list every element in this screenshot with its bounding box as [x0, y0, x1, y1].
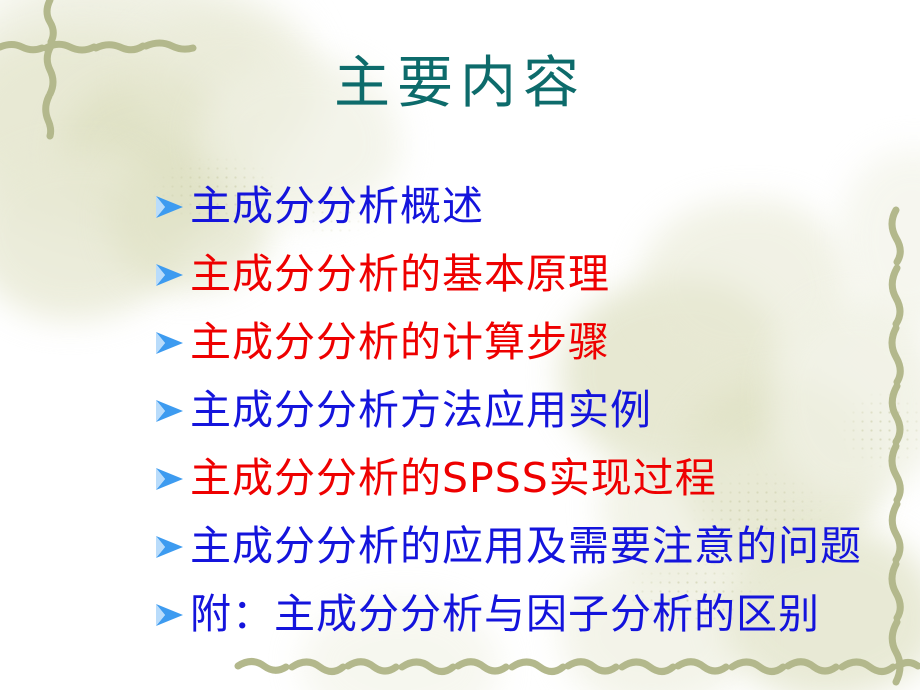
list-item[interactable]: 附：主成分分析与因子分析的区别 [152, 580, 912, 648]
list-item-label: 主成分分析的应用及需要注意的问题 [190, 526, 862, 567]
presentation-slide: 主要内容 主成分分析概述 主成分分析的基本原理 [0, 0, 920, 690]
list-item[interactable]: 主成分分析方法应用实例 [152, 376, 912, 444]
list-item[interactable]: 主成分分析的基本原理 [152, 240, 912, 308]
bullet-list: 主成分分析概述 主成分分析的基本原理 主成分分析的计算步骤 [152, 172, 912, 648]
arrowhead-bullet-icon [152, 258, 186, 292]
list-item-label: 主成分分析的计算步骤 [190, 322, 610, 363]
arrowhead-bullet-icon [152, 394, 186, 428]
list-item-label: 主成分分析概述 [190, 186, 484, 227]
bamboo-stalk-horizontal-icon [236, 648, 920, 686]
list-item-label: 主成分分析的SPSS实现过程 [190, 458, 717, 499]
list-item-label: 主成分分析的基本原理 [190, 254, 610, 295]
list-item[interactable]: 主成分分析的计算步骤 [152, 308, 912, 376]
arrowhead-bullet-icon [152, 462, 186, 496]
arrowhead-bullet-icon [152, 190, 186, 224]
list-item[interactable]: 主成分分析的SPSS实现过程 [152, 444, 912, 512]
arrowhead-bullet-icon [152, 530, 186, 564]
list-item-label: 附：主成分分析与因子分析的区别 [190, 594, 820, 635]
arrowhead-bullet-icon [152, 326, 186, 360]
list-item[interactable]: 主成分分析概述 [152, 172, 912, 240]
list-item[interactable]: 主成分分析的应用及需要注意的问题 [152, 512, 912, 580]
slide-title: 主要内容 [0, 56, 920, 112]
list-item-label: 主成分分析方法应用实例 [190, 390, 652, 431]
arrowhead-bullet-icon [152, 598, 186, 632]
